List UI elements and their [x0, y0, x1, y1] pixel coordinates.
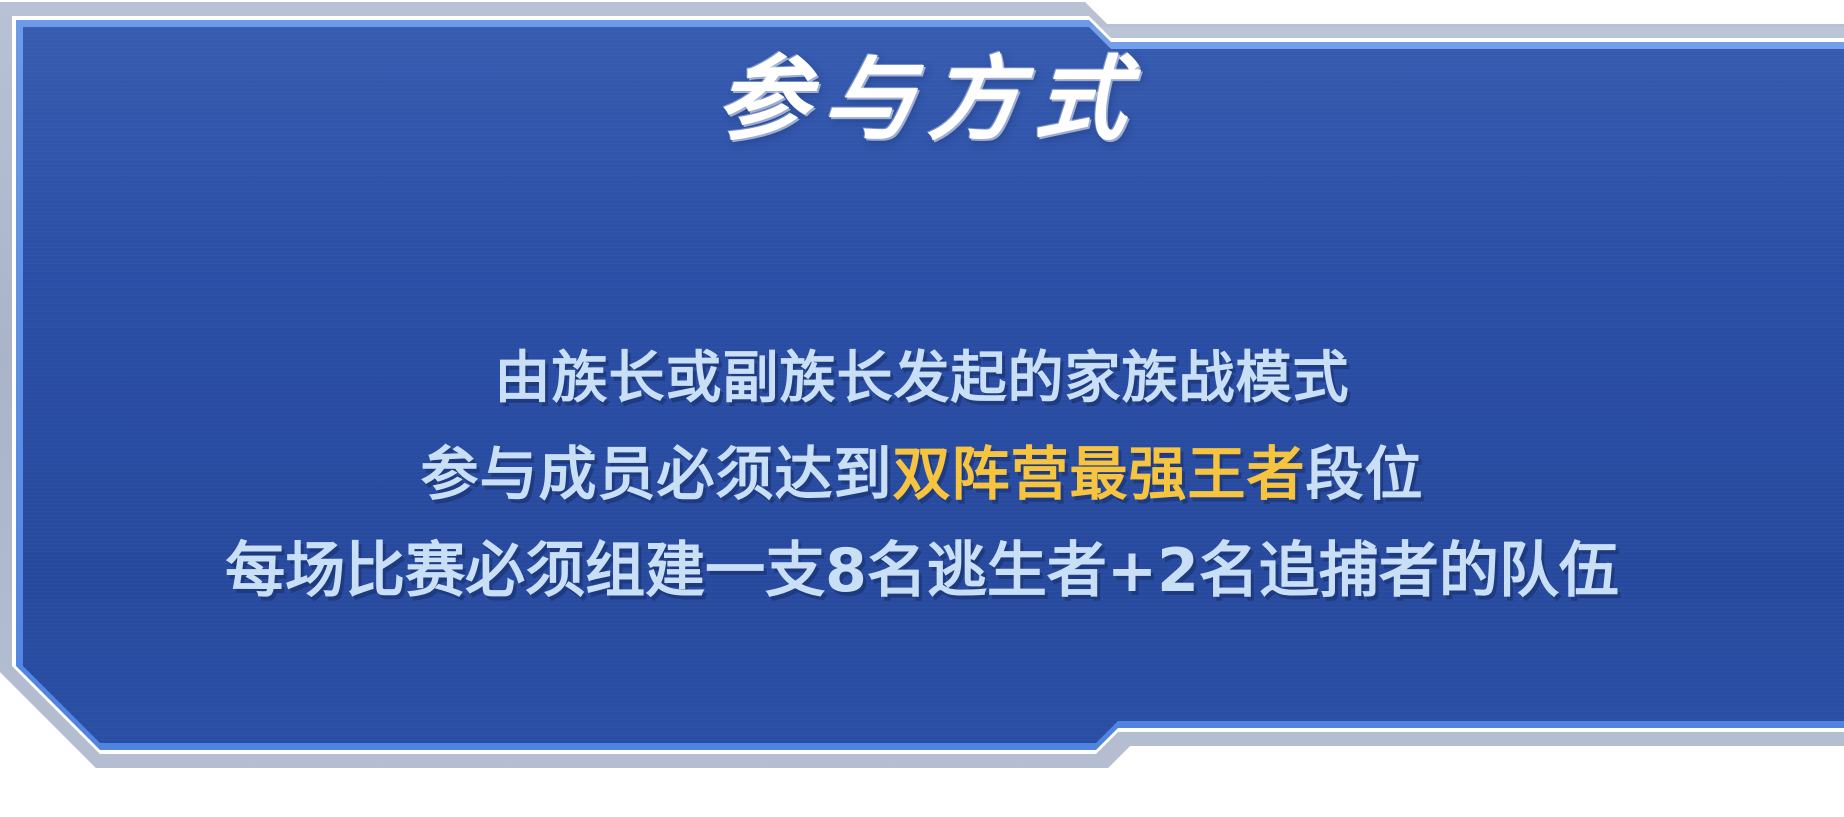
rules-line-rank-prefix: 参与成员必须达到 [420, 440, 892, 508]
rules-line-team-text: 每场比赛必须组建一支8名逃生者+2名追捕者的队伍 [225, 536, 1619, 606]
banner-title: 参与方式 [0, 46, 1844, 154]
rules-line-rank-suffix: 段位 [1306, 440, 1424, 508]
rules-line-host-text: 由族长或副族长发起的家族战模式 [495, 346, 1350, 411]
rules-line-rank-emphasis: 双阵营最强王者 [892, 440, 1305, 508]
rules-line-host: 由族长或副族长发起的家族战模式 [0, 332, 1844, 426]
rules-line-team: 每场比赛必须组建一支8名逃生者+2名追捕者的队伍 [0, 522, 1844, 620]
banner-stage: 参与方式 由族长或副族长发起的家族战模式 参与成员必须达到双阵营最强王者段位 每… [0, 0, 1844, 817]
rules-list: 由族长或副族长发起的家族战模式 参与成员必须达到双阵营最强王者段位 每场比赛必须… [0, 332, 1844, 620]
banner-content: 参与方式 由族长或副族长发起的家族战模式 参与成员必须达到双阵营最强王者段位 每… [0, 0, 1844, 817]
rules-line-rank: 参与成员必须达到双阵营最强王者段位 [0, 426, 1844, 522]
